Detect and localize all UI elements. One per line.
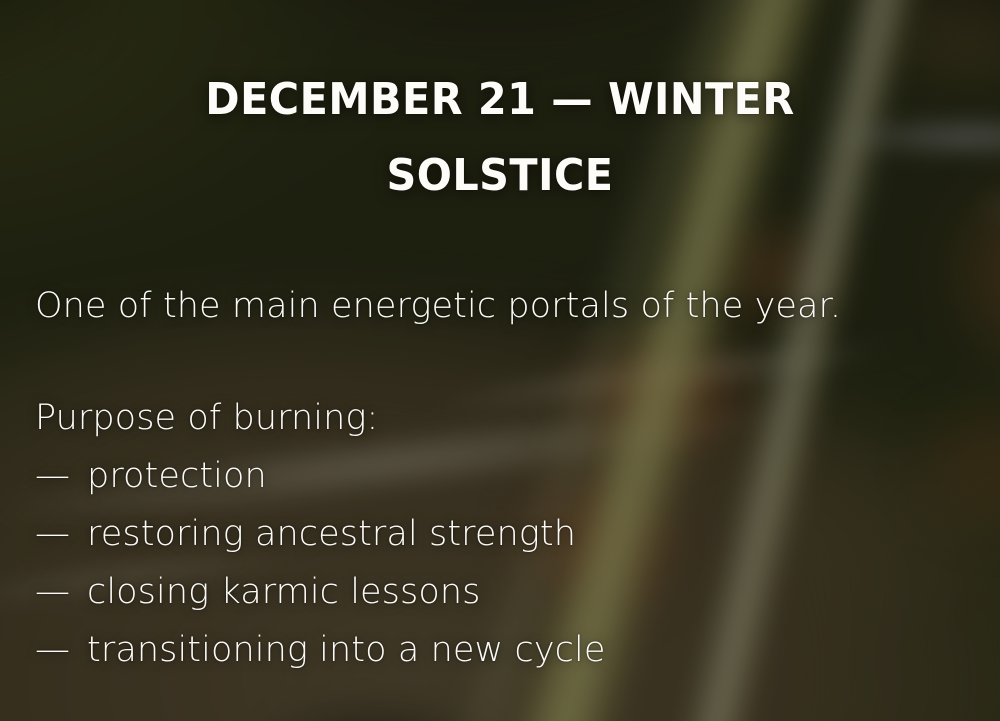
list-item: —transitioning into a new cycle: [35, 616, 970, 674]
list-item: —protection: [35, 442, 970, 500]
slide-body: One of the main energetic portals of the…: [35, 283, 970, 674]
list-item-label: transitioning into a new cycle: [87, 630, 605, 670]
list-item-label: restoring ancestral strength: [87, 514, 576, 554]
list-item: —restoring ancestral strength: [35, 500, 970, 558]
em-dash-bullet: —: [35, 511, 87, 558]
purpose-heading: Purpose of burning:: [35, 330, 970, 442]
solstice-slide: December 21 — Winter Solstice One of the…: [0, 0, 1000, 721]
list-item: —closing karmic lessons: [35, 558, 970, 616]
lede-text: One of the main energetic portals of the…: [35, 283, 970, 330]
purpose-list: —protection —restoring ancestral strengt…: [35, 442, 970, 674]
slide-headline: December 21 — Winter Solstice: [30, 62, 970, 214]
slide-content: December 21 — Winter Solstice One of the…: [0, 0, 1000, 721]
em-dash-bullet: —: [35, 627, 87, 674]
list-item-label: protection: [87, 456, 267, 496]
em-dash-bullet: —: [35, 569, 87, 616]
list-item-label: closing karmic lessons: [87, 572, 480, 612]
em-dash-bullet: —: [35, 453, 87, 500]
